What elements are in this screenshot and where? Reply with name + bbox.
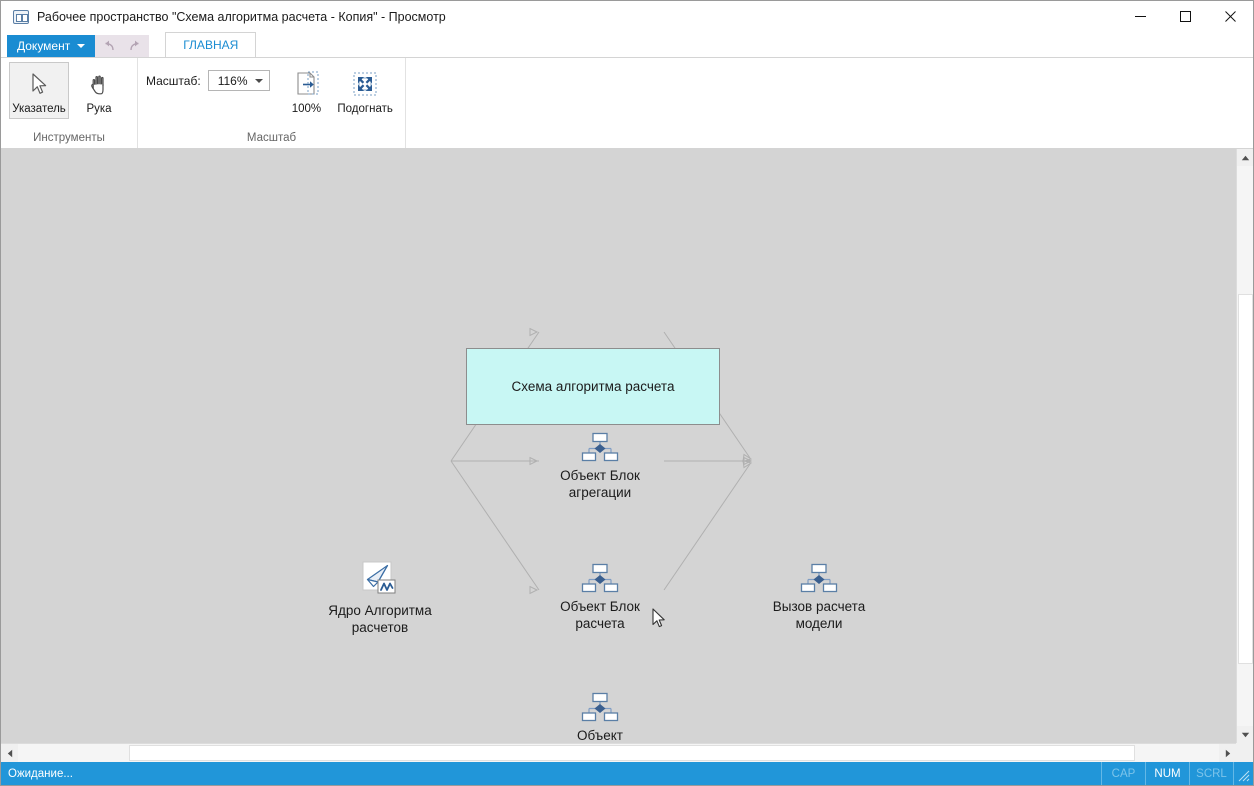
canvas-area: Схема алгоритма расчета Ядро Алгоритма р…	[1, 149, 1253, 762]
status-indicators: CAP NUM SCRL	[1101, 762, 1253, 785]
zoom-actual-size-label: 100%	[292, 103, 321, 116]
scroll-right-icon[interactable]	[1219, 744, 1236, 762]
diagram-canvas[interactable]: Схема алгоритма расчета Ядро Алгоритма р…	[1, 149, 1236, 743]
zoom-combo[interactable]: 116%	[208, 70, 270, 91]
quick-access-toolbar	[95, 35, 149, 57]
node-calculation-block-label: Объект Блок расчета	[560, 598, 640, 632]
status-bar: Ожидание... CAP NUM SCRL	[1, 762, 1253, 785]
resize-grip-icon[interactable]	[1233, 762, 1253, 785]
hierarchy-icon	[580, 430, 620, 464]
fit-page-icon	[350, 67, 380, 101]
ribbon: Указатель Рука Инструменты Мас	[1, 57, 1253, 149]
status-message: Ожидание...	[8, 768, 73, 780]
diagram-title-box[interactable]: Схема алгоритма расчета	[466, 348, 720, 425]
window-title: Рабочее пространство "Схема алгоритма ра…	[37, 10, 446, 24]
node-model-calculation-call-label: Вызов расчета модели	[773, 598, 865, 632]
zoom-fit-page-button[interactable]: Подогнать	[333, 62, 397, 119]
zoom-actual-size-button[interactable]: 100%	[280, 62, 334, 119]
horizontal-scroll-thumb[interactable]	[129, 745, 1135, 761]
tool-pointer-label: Указатель	[12, 103, 66, 116]
ribbon-tabs: ГЛАВНАЯ	[165, 32, 256, 57]
node-algorithm-core[interactable]: Ядро Алгоритма расчетов	[300, 561, 460, 636]
tab-home[interactable]: ГЛАВНАЯ	[165, 32, 256, 57]
ribbon-filler	[406, 58, 1253, 148]
scrollbar-corner	[1236, 743, 1253, 762]
close-button[interactable]	[1208, 1, 1253, 32]
node-aggregation-block[interactable]: Объект Блок агрегации	[520, 430, 680, 501]
tool-hand-label: Рука	[86, 103, 111, 116]
chevron-down-icon	[255, 79, 263, 83]
undo-icon[interactable]	[101, 38, 118, 55]
vertical-scrollbar[interactable]	[1236, 149, 1253, 743]
redo-icon[interactable]	[126, 38, 143, 55]
zoom-fit-page-label: Подогнать	[337, 103, 392, 116]
pointer-icon	[28, 67, 50, 101]
ribbon-group-zoom-title: Масштаб	[138, 130, 405, 148]
diagram-title-text: Схема алгоритма расчета	[512, 379, 675, 394]
ribbon-group-zoom: Масштаб: 116%	[138, 58, 406, 148]
node-calculation-algorithm-label: Объект Алгоритма расчета	[566, 727, 633, 743]
application-window: Рабочее пространство "Схема алгоритма ра…	[0, 0, 1254, 786]
tab-home-label: ГЛАВНАЯ	[183, 38, 238, 52]
scroll-down-icon[interactable]	[1237, 726, 1253, 743]
zoom-label: Масштаб:	[146, 74, 201, 88]
actual-size-icon	[291, 67, 321, 101]
document-button[interactable]: Документ	[7, 35, 95, 57]
status-badge-scrl-label: SCRL	[1196, 768, 1227, 780]
node-algorithm-core-label: Ядро Алгоритма расчетов	[328, 602, 431, 636]
maximize-button[interactable]	[1163, 1, 1208, 32]
scroll-up-icon[interactable]	[1237, 149, 1253, 166]
tool-hand-button[interactable]: Рука	[69, 62, 129, 119]
chevron-down-icon	[77, 44, 85, 48]
hierarchy-icon	[580, 690, 620, 724]
workspace-icon	[13, 10, 29, 24]
horizontal-scroll-track[interactable]	[18, 744, 1219, 762]
status-badge-scrl[interactable]: SCRL	[1189, 762, 1233, 785]
status-badge-num[interactable]: NUM	[1145, 762, 1189, 785]
quick-access-tab-row: Документ ГЛАВНАЯ	[1, 32, 1253, 57]
node-calculation-block[interactable]: Объект Блок расчета	[520, 561, 680, 632]
node-aggregation-block-label: Объект Блок агрегации	[560, 467, 640, 501]
horizontal-scrollbar[interactable]	[1, 743, 1236, 762]
node-calculation-algorithm[interactable]: Объект Алгоритма расчета	[520, 690, 680, 743]
status-badge-num-label: NUM	[1154, 768, 1180, 780]
minimize-button[interactable]	[1118, 1, 1163, 32]
ribbon-group-tools: Указатель Рука Инструменты	[1, 58, 138, 148]
tool-pointer-button[interactable]: Указатель	[9, 62, 69, 119]
node-model-calculation-call[interactable]: Вызов расчета модели	[739, 561, 899, 632]
algorithm-core-icon	[360, 561, 400, 599]
zoom-value: 116%	[218, 74, 248, 88]
vertical-scroll-track[interactable]	[1237, 166, 1253, 726]
status-badge-cap[interactable]: CAP	[1101, 762, 1145, 785]
title-bar: Рабочее пространство "Схема алгоритма ра…	[1, 1, 1253, 32]
status-badge-cap-label: CAP	[1112, 768, 1136, 780]
hierarchy-icon	[799, 561, 839, 595]
ribbon-group-tools-title: Инструменты	[1, 130, 137, 148]
hierarchy-icon	[580, 561, 620, 595]
scroll-left-icon[interactable]	[1, 744, 18, 762]
hand-icon	[87, 67, 111, 101]
document-button-label: Документ	[17, 39, 70, 53]
vertical-scroll-thumb[interactable]	[1238, 294, 1253, 664]
window-controls	[1118, 1, 1253, 32]
